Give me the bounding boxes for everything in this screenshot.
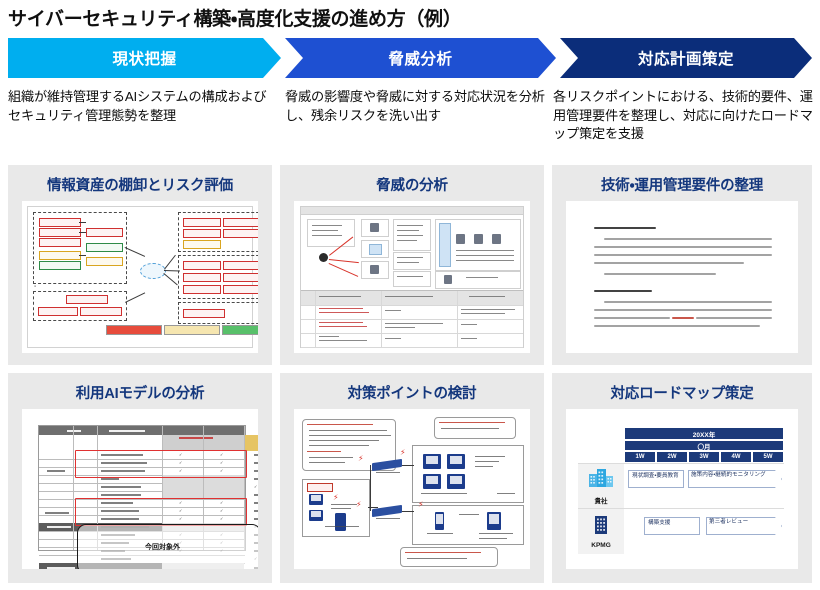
- gantt-row-label-client: 貴社: [578, 463, 624, 509]
- process-step-3-label: 対応計画策定: [638, 47, 734, 69]
- legend-low: [222, 325, 258, 335]
- thumbnail-asset-inventory-diagram[interactable]: ※: [22, 201, 258, 353]
- process-step-1[interactable]: 現状把握: [8, 38, 281, 78]
- gantt-task-kpmg-1[interactable]: 構築支援: [644, 517, 700, 535]
- group-cloud-services: [178, 255, 258, 299]
- remote-zone: [435, 271, 521, 289]
- table-header-highlight: [244, 435, 258, 451]
- table-header-row: [301, 291, 523, 306]
- table-row: [301, 333, 523, 348]
- gantt-week-4: 4W: [720, 451, 752, 463]
- highlight-box-1: [75, 450, 247, 478]
- panel-threat-analysis-title: 脅威の分析: [280, 174, 544, 195]
- step-description-3: 各リスクポイントにおける、技術的要件、運用管理要件を整理し、対応に向けたロードマ…: [553, 88, 815, 144]
- zone-office: [412, 445, 524, 503]
- page-title: サイバーセキュリティ構築・高度化支援の進め方（例）: [8, 4, 461, 31]
- panel-ai-model-analysis-title: 利用AIモデルの分析: [8, 382, 272, 403]
- office-buildings-icon: [588, 468, 614, 493]
- step-description-1: 組織が維持管理するAIシステムの構成およびセキュリティ管理態勢を整理: [8, 88, 276, 125]
- gantt-row-label-client-text: 貴社: [595, 495, 608, 505]
- service-list-3: [393, 271, 431, 287]
- gantt-week-1: 1W: [624, 451, 656, 463]
- caption-internal: ※: [34, 285, 36, 288]
- step-description-2: 脅威の影響度や脅威に対する対応状況を分析し、残余リスクを洗い出す: [285, 88, 547, 125]
- step-descriptions: 組織が維持管理するAIシステムの構成およびセキュリティ管理態勢を整理 脅威の影響…: [8, 88, 812, 160]
- diagram-frame: ※: [27, 206, 253, 348]
- panel-ai-model-analysis[interactable]: 利用AIモデルの分析 ✓ ✓: [8, 373, 272, 583]
- process-step-3[interactable]: 対応計画策定: [560, 38, 812, 78]
- panel-countermeasure-title: 対策ポイントの検討: [280, 382, 544, 403]
- process-step-2[interactable]: 脅威分析: [285, 38, 556, 78]
- highlight-box-2: [75, 498, 247, 526]
- thumbnail-ai-model-matrix[interactable]: ✓ ✓ ✓ ✓ ✓ ✓: [22, 409, 258, 569]
- gantt-week-2: 2W: [656, 451, 688, 463]
- legend-mid: [164, 325, 220, 335]
- thumbnail-countermeasure-diagram[interactable]: ⚡: [294, 409, 530, 569]
- diagram-header-bar: [301, 207, 523, 215]
- table-row: [301, 319, 523, 334]
- out-of-scope-label: 今回対象外: [145, 542, 180, 552]
- network-zone: [435, 219, 521, 271]
- group-external-services: [178, 302, 258, 324]
- panel-asset-inventory[interactable]: 情報資産の棚卸とリスク評価 ※: [8, 165, 272, 365]
- thumbnail-threat-analysis-diagram[interactable]: [294, 201, 530, 353]
- matrix-table: ✓ ✓ ✓ ✓ ✓ ✓: [38, 425, 246, 551]
- zone-datacenter: [412, 505, 524, 545]
- panel-roadmap[interactable]: 対応ロードマップ策定 20XX年 〇月 1W 2W 3W 4W 5W: [552, 373, 812, 583]
- group-subsidiary: [33, 291, 127, 321]
- panel-roadmap-title: 対応ロードマップ策定: [552, 382, 812, 403]
- sns-source-box: [307, 219, 355, 247]
- panel-asset-inventory-title: 情報資産の棚卸とリスク評価: [8, 174, 272, 195]
- panel-countermeasure[interactable]: 対策ポイントの検討: [280, 373, 544, 583]
- asset-node-3: [361, 261, 389, 279]
- office-building-icon: [593, 515, 609, 540]
- group-internal: [33, 212, 127, 284]
- internet-cloud-icon: [140, 263, 166, 279]
- legend-high: [106, 325, 162, 335]
- gantt-row-label-kpmg: KPMG: [578, 508, 624, 554]
- panel-requirements[interactable]: 技術・運用管理要件の整理: [552, 165, 812, 365]
- process-step-2-label: 脅威分析: [388, 47, 452, 69]
- callout-server: [434, 417, 516, 439]
- panel-requirements-title: 技術・運用管理要件の整理: [552, 174, 812, 195]
- panel-threat-analysis[interactable]: 脅威の分析: [280, 165, 544, 365]
- gantt-week-5: 5W: [752, 451, 784, 463]
- gantt-week-3: 3W: [688, 451, 720, 463]
- asset-node-2: [361, 240, 389, 258]
- process-flow: 現状把握 脅威分析 対応計画策定: [8, 38, 812, 78]
- gantt-chart: 20XX年 〇月 1W 2W 3W 4W 5W: [578, 421, 788, 557]
- threat-table: [301, 290, 523, 347]
- gantt-task-kpmg-2[interactable]: 第三者レビュー: [706, 517, 782, 535]
- gantt-task-client-2[interactable]: 施策内容・継続的モニタリング: [688, 470, 782, 488]
- attacker-label: [307, 483, 333, 492]
- service-list-2: [393, 252, 431, 270]
- gantt-row-label-kpmg-text: KPMG: [591, 542, 611, 549]
- group-infrastructure: [178, 212, 258, 252]
- service-list-1: [393, 219, 431, 251]
- document-page: [588, 205, 776, 349]
- gantt-year-header: 20XX年: [624, 427, 784, 440]
- thumbnail-roadmap-gantt[interactable]: 20XX年 〇月 1W 2W 3W 4W 5W: [566, 409, 798, 569]
- attacker-icon: [319, 253, 328, 262]
- thumbnail-requirements-document[interactable]: [566, 201, 798, 353]
- diagram-frame: [300, 206, 524, 348]
- gantt-month-header: 〇月: [624, 440, 784, 451]
- table-row: [301, 305, 523, 320]
- gantt-task-client-1[interactable]: 現状調査・要員教育: [628, 470, 684, 488]
- deliverable-grid: 情報資産の棚卸とリスク評価 ※: [8, 165, 812, 583]
- asset-node-1: [361, 219, 389, 237]
- callout-log: [400, 547, 498, 567]
- process-step-1-label: 現状把握: [112, 47, 176, 69]
